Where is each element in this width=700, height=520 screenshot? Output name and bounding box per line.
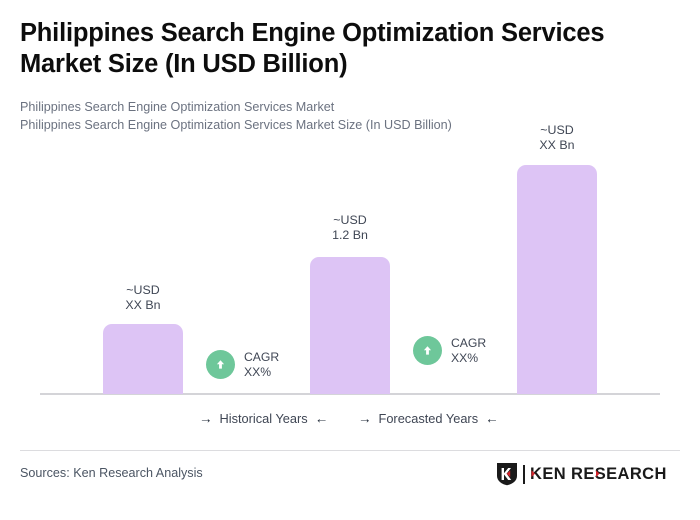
- arrow-right-icon: →: [199, 412, 213, 426]
- cagr-badge-forecast: CAGR XX%: [413, 336, 486, 365]
- chart-page: Philippines Search Engine Optimization S…: [0, 0, 700, 520]
- period-label-forecast: → Forecasted Years ←: [358, 411, 499, 426]
- period-label-historical: → Historical Years ←: [199, 411, 328, 426]
- bar-value-label-1-line2: XX Bn: [103, 298, 183, 313]
- bar-value-label-2-line2: 1.2 Bn: [310, 228, 390, 243]
- arrow-up-icon: [413, 336, 442, 365]
- period-historical-text: Historical Years: [220, 411, 308, 426]
- bar-forecast[interactable]: [517, 165, 597, 394]
- cagr-forecast-line2: XX%: [451, 351, 486, 366]
- bar-value-label-1: ~USD XX Bn: [103, 283, 183, 312]
- shield-logo-icon: [496, 462, 518, 486]
- arrow-up-icon: [206, 350, 235, 379]
- arrow-right-icon: →: [358, 412, 372, 426]
- cagr-historical-line2: XX%: [244, 365, 279, 380]
- cagr-historical-line1: CAGR: [244, 350, 279, 365]
- bar-value-label-3-line2: XX Bn: [517, 138, 597, 153]
- period-forecast-text: Forecasted Years: [379, 411, 479, 426]
- bar-value-label-3-line1: ~USD: [517, 123, 597, 138]
- bar-value-label-3: ~USD XX Bn: [517, 123, 597, 152]
- cagr-label-historical: CAGR XX%: [244, 350, 279, 379]
- ken-research-logo: KEN RESEARCH: [496, 462, 680, 486]
- arrow-left-icon: ←: [315, 412, 329, 426]
- cagr-label-forecast: CAGR XX%: [451, 336, 486, 365]
- sources-text: Sources: Ken Research Analysis: [20, 466, 203, 480]
- bar-value-label-2-line1: ~USD: [310, 213, 390, 228]
- cagr-badge-historical: CAGR XX%: [206, 350, 279, 379]
- logo-divider: [523, 465, 525, 484]
- bar-value-label-2: ~USD 1.2 Bn: [310, 213, 390, 242]
- arrow-left-icon: ←: [485, 412, 499, 426]
- bar-historical[interactable]: [103, 324, 183, 394]
- bar-base-year[interactable]: [310, 257, 390, 394]
- footer-divider: [20, 450, 680, 451]
- bar-chart-plot-area: ~USD XX Bn ~USD 1.2 Bn ~USD XX Bn CAGR X…: [0, 0, 700, 440]
- cagr-forecast-line1: CAGR: [451, 336, 486, 351]
- bar-value-label-1-line1: ~USD: [103, 283, 183, 298]
- logo-wordmark: KEN RESEARCH: [530, 464, 680, 484]
